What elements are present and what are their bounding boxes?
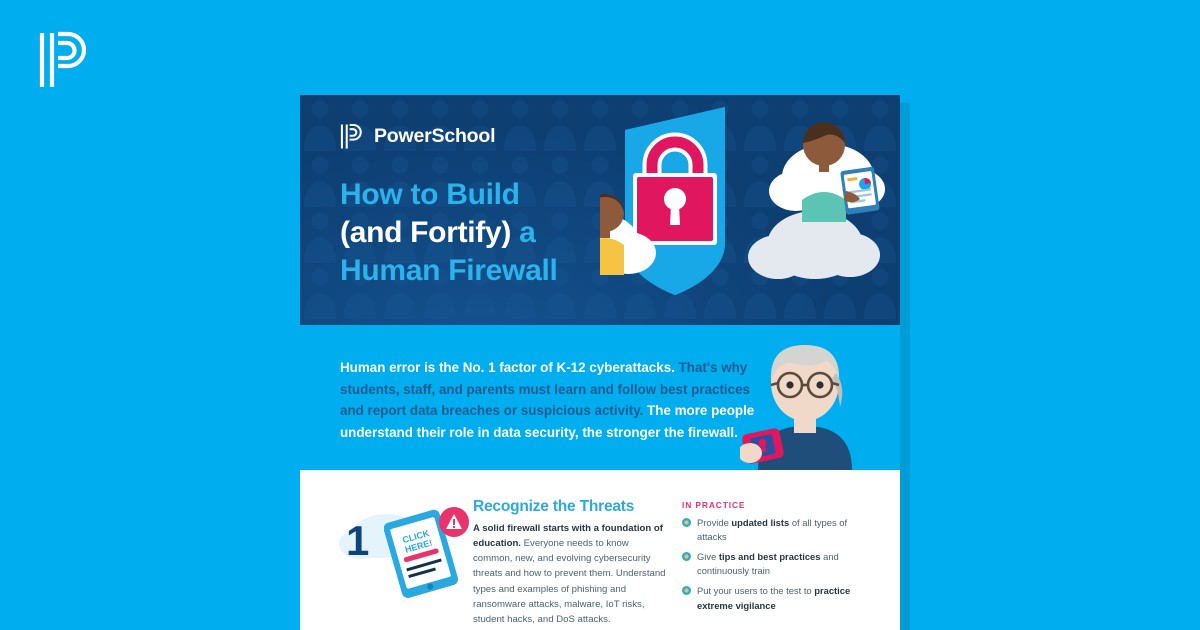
- powerschool-p-mark-icon: [340, 123, 365, 150]
- step-description-rest: Everyone needs to know common, new, and …: [473, 538, 666, 625]
- powerschool-p-mark-icon: [38, 30, 94, 90]
- practice-list-item: Put your users to the test to practice e…: [682, 584, 862, 612]
- steps-list: 1 CLICK HERE!: [300, 470, 900, 630]
- title-line-2-white: (and Fortify): [340, 216, 511, 249]
- hero-section: PowerSchool How to Build (and Fortify) a…: [300, 95, 900, 325]
- tablet-click-here-warning-icon: CLICK HERE!: [384, 502, 472, 598]
- intro-text: Human error is the No. 1 factor of K-12 …: [300, 325, 770, 444]
- powerschool-logo: PowerSchool: [340, 123, 900, 150]
- practice-list-item: Give tips and best practices and continu…: [682, 550, 862, 578]
- practice-label: IN PRACTICE: [682, 500, 862, 510]
- warning-badge-icon: [439, 507, 469, 537]
- bullet-dot-icon: [682, 586, 691, 595]
- practice-list-item: Provide updated lists of all types of at…: [682, 516, 862, 544]
- intro-lead: Human error is the No. 1 factor of K-12 …: [340, 360, 675, 375]
- title-line-2-blue: a: [511, 216, 535, 249]
- title-line-1: How to Build: [340, 178, 520, 211]
- bullet-dot-icon: [682, 552, 691, 561]
- practice-pre: Give: [697, 551, 719, 562]
- step-number: 1: [346, 520, 369, 562]
- step-title: Recognize the Threats: [473, 498, 668, 516]
- step-artwork: 1 CLICK HERE!: [338, 498, 473, 606]
- practice-bold: updated lists: [731, 517, 789, 528]
- practice-bold: tips and best practices: [719, 551, 821, 562]
- bullet-dot-icon: [682, 518, 691, 527]
- step-body: Recognize the Threats A solid firewall s…: [473, 498, 682, 627]
- intro-band: Human error is the No. 1 factor of K-12 …: [300, 325, 900, 470]
- practice-pre: Provide: [697, 517, 731, 528]
- step-practice: IN PRACTICE Provide updated lists of all…: [682, 498, 862, 627]
- infographic-card: PowerSchool How to Build (and Fortify) a…: [300, 95, 900, 630]
- powerschool-corner-logo: [38, 30, 94, 90]
- step-item: 1 CLICK HERE!: [338, 470, 862, 630]
- practice-pre: Put your users to the test to: [697, 585, 814, 596]
- powerschool-wordmark: PowerSchool: [374, 127, 495, 147]
- step-description: A solid firewall starts with a foundatio…: [473, 521, 668, 627]
- page-title: How to Build (and Fortify) a Human Firew…: [340, 176, 900, 289]
- title-line-3: Human Firewall: [340, 254, 558, 287]
